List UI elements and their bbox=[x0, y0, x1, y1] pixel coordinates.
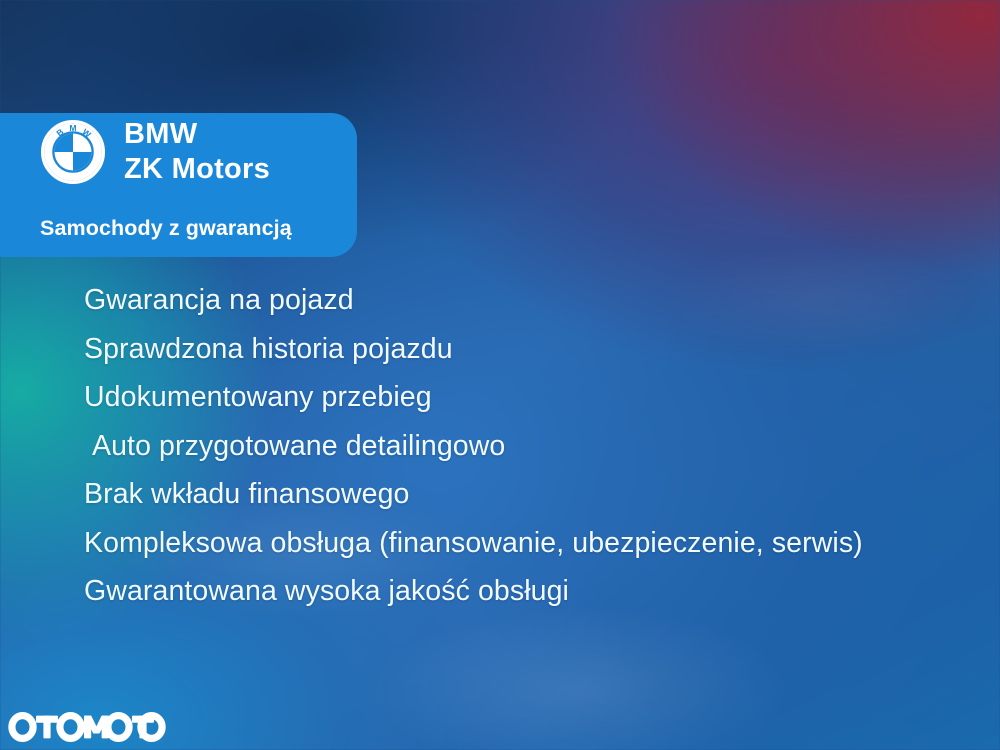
feature-item: Gwarancja na pojazd bbox=[0, 276, 1000, 325]
feature-item: Gwarantowana wysoka jakość obsługi bbox=[0, 567, 1000, 616]
dealer-name: ZK Motors bbox=[124, 155, 270, 184]
otomoto-wordmark-icon: OTOMOTO bbox=[8, 711, 166, 743]
dealer-tagline: Samochody z gwarancją bbox=[40, 216, 292, 241]
feature-item: Kompleksowa obsługa (finansowanie, ubezp… bbox=[0, 519, 1000, 568]
feature-item: Udokumentowany przebieg bbox=[0, 373, 1000, 422]
feature-item: Sprawdzona historia pojazdu bbox=[0, 325, 1000, 374]
bmw-roundel-icon: B M W bbox=[40, 119, 106, 185]
feature-list: Gwarancja na pojazd Sprawdzona historia … bbox=[0, 276, 1000, 616]
brand-name: BMW bbox=[124, 120, 270, 149]
svg-text:M: M bbox=[69, 123, 76, 133]
dealer-badge-titles: BMW ZK Motors bbox=[124, 120, 270, 184]
dealer-badge-header: B M W BMW ZK Motors bbox=[40, 119, 270, 185]
feature-item: Auto przygotowane detailingowo bbox=[0, 422, 1000, 471]
feature-item: Brak wkładu finansowego bbox=[0, 470, 1000, 519]
dealer-badge: B M W BMW ZK Motors Samochody z gwarancj… bbox=[0, 113, 357, 257]
